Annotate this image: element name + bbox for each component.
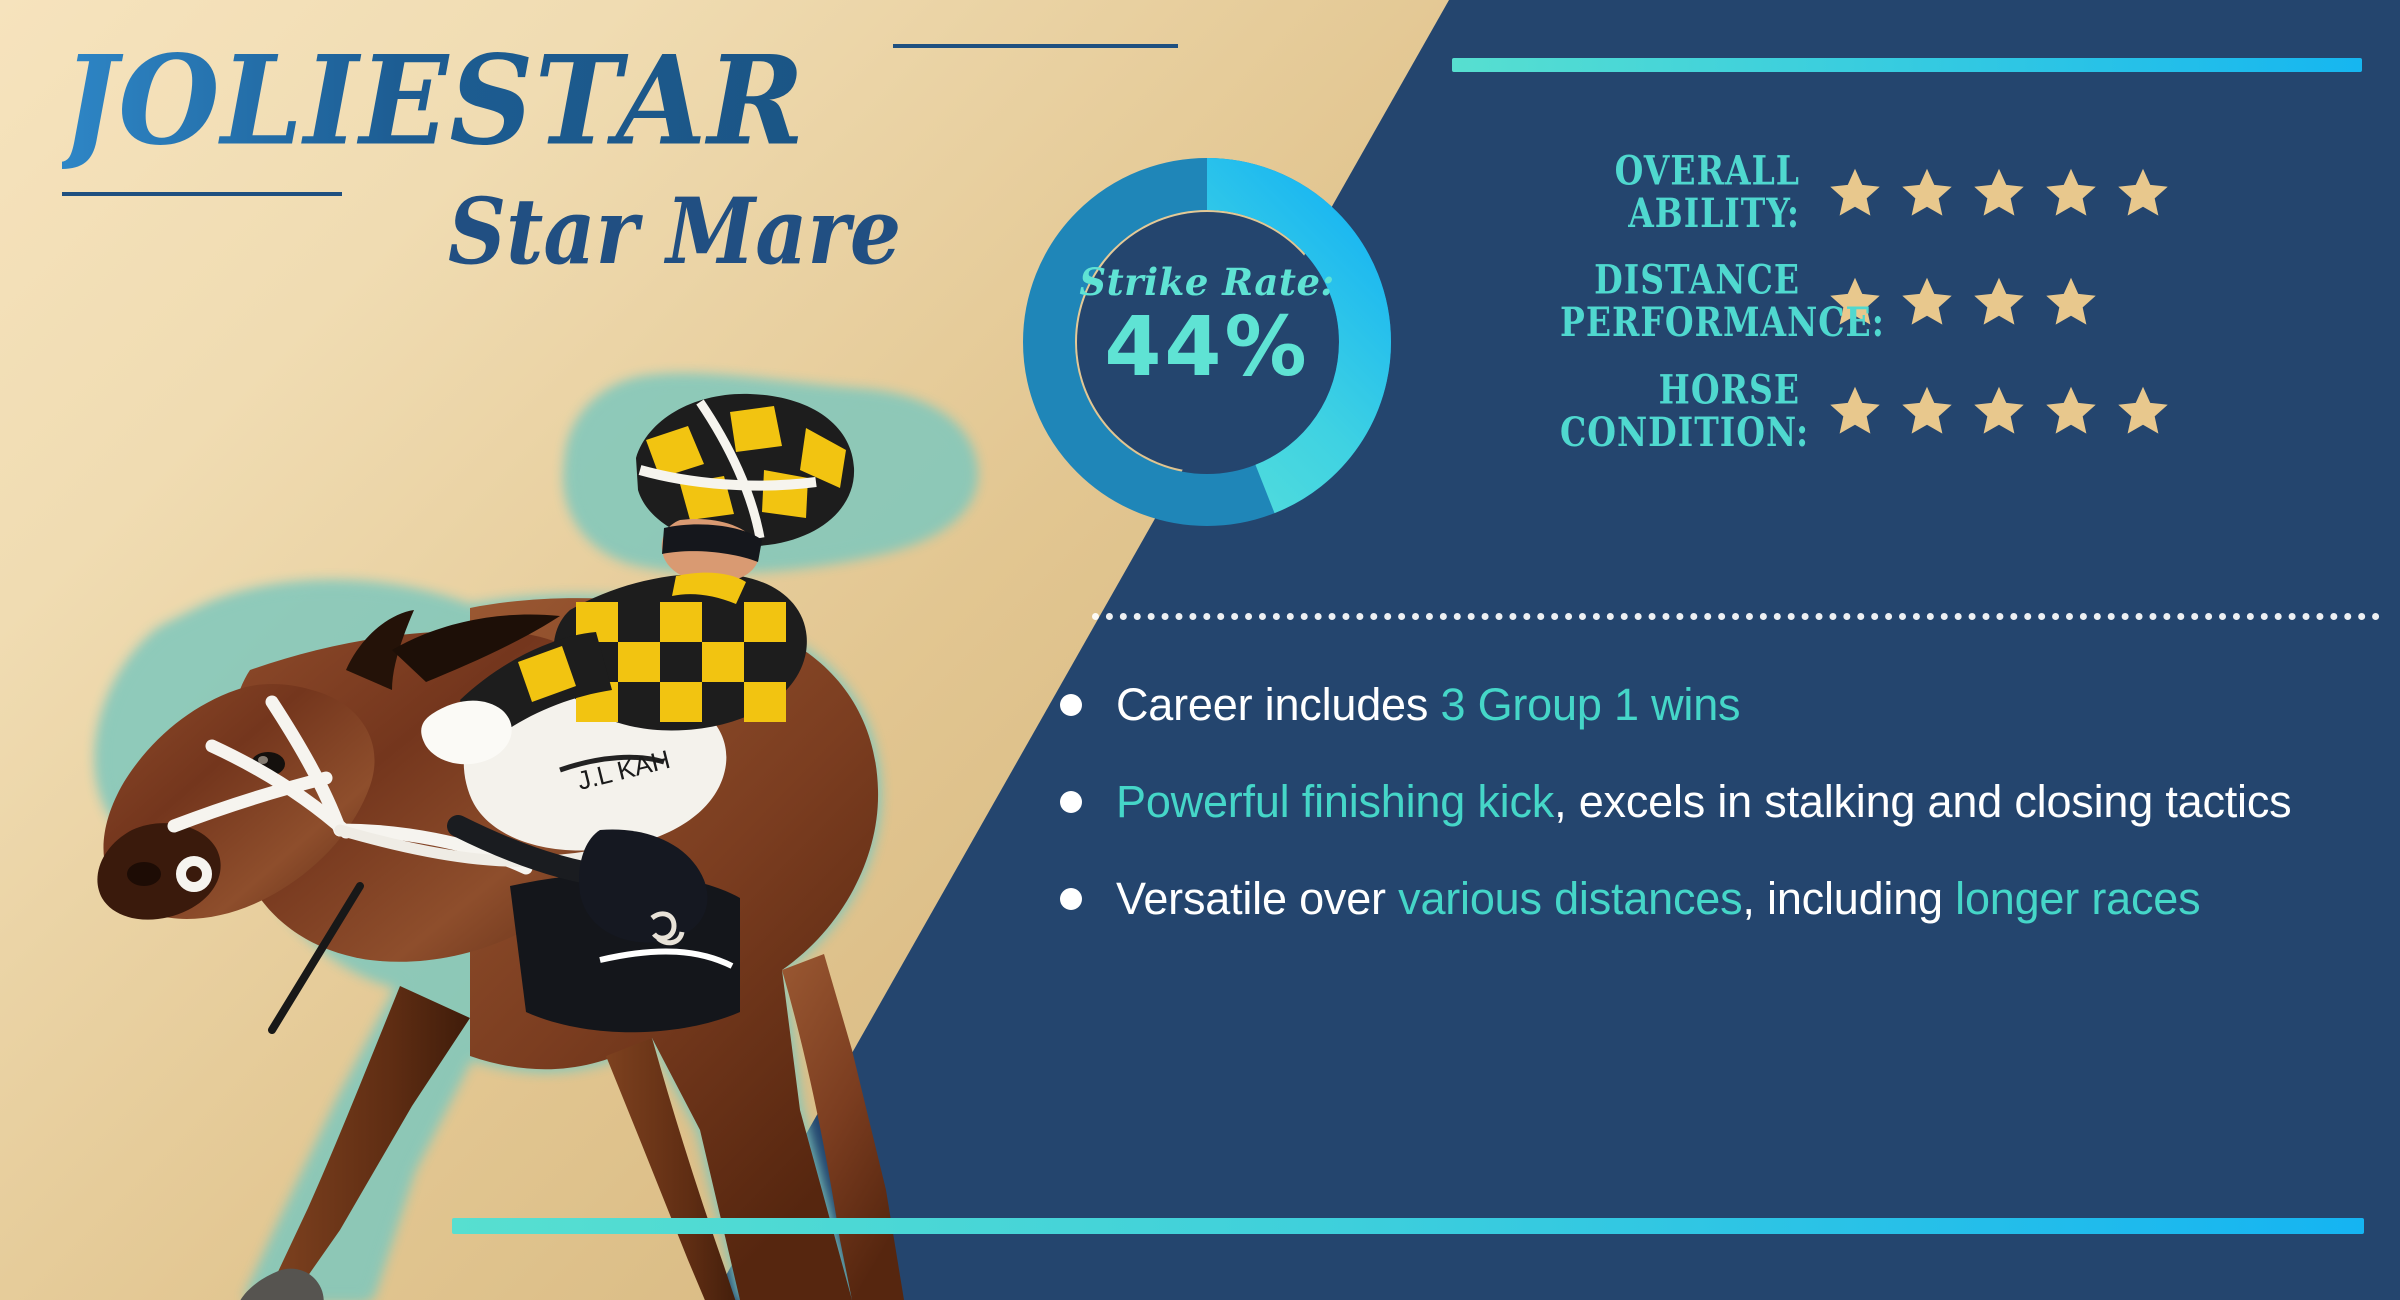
strike-rate-label: Strike Rate: bbox=[997, 260, 1417, 304]
star-icon bbox=[2042, 274, 2100, 330]
title-rule-bottom bbox=[62, 192, 342, 196]
infographic-card: J.L KAH bbox=[0, 0, 2400, 1300]
plain-text: , including bbox=[1742, 873, 1955, 924]
rating-stars bbox=[1826, 165, 2172, 221]
bullet-list: Career includes 3 Group 1 winsPowerful f… bbox=[1060, 678, 2400, 969]
rating-label: OVERALLABILITY: bbox=[1560, 150, 1826, 235]
star-icon bbox=[2042, 383, 2100, 439]
plain-text: Versatile over bbox=[1116, 873, 1398, 924]
star-icon bbox=[1970, 383, 2028, 439]
list-item-text: Career includes 3 Group 1 wins bbox=[1116, 678, 1740, 731]
star-icon bbox=[1826, 383, 1884, 439]
list-item: Versatile over various distances, includ… bbox=[1060, 872, 2400, 925]
strike-rate-value: 44% bbox=[997, 300, 1417, 395]
rating-stars bbox=[1826, 383, 2172, 439]
list-item-text: Powerful finishing kick, excels in stalk… bbox=[1116, 775, 2291, 828]
rating-label-line1: DISTANCE bbox=[1594, 256, 1800, 304]
star-icon bbox=[1898, 383, 1956, 439]
star-icon bbox=[1898, 165, 1956, 221]
star-icon bbox=[2114, 383, 2172, 439]
rating-row: HORSECONDITION: bbox=[1560, 377, 2400, 446]
horse-jockey-photo: J.L KAH bbox=[40, 270, 1040, 1300]
rating-label-line2: CONDITION: bbox=[1560, 408, 1809, 456]
rating-label: HORSECONDITION: bbox=[1560, 369, 1826, 454]
list-item-text: Versatile over various distances, includ… bbox=[1116, 872, 2200, 925]
star-icon bbox=[1970, 165, 2028, 221]
star-icon bbox=[1970, 274, 2028, 330]
rating-label-line1: HORSE bbox=[1659, 365, 1800, 413]
highlight-text: longer races bbox=[1955, 873, 2200, 924]
star-icon bbox=[1898, 274, 1956, 330]
title-rule-top bbox=[893, 44, 1178, 48]
list-item: Powerful finishing kick, excels in stalk… bbox=[1060, 775, 2400, 828]
bullet-dot-icon bbox=[1060, 694, 1082, 716]
star-icon bbox=[2114, 165, 2172, 221]
ratings-list: OVERALLABILITY:DISTANCEPERFORMANCE:HORSE… bbox=[1560, 158, 2400, 486]
bullet-dot-icon bbox=[1060, 888, 1082, 910]
dotted-divider bbox=[1092, 613, 2380, 620]
rating-label-line1: OVERALL bbox=[1615, 147, 1800, 195]
highlight-text: 3 Group 1 wins bbox=[1440, 679, 1740, 730]
strike-rate-donut: Strike Rate: 44% bbox=[997, 132, 1417, 552]
plain-text: , excels in stalking and closing tactics bbox=[1554, 776, 2291, 827]
page-title: JOLIESTAR bbox=[62, 28, 805, 173]
plain-text: Career includes bbox=[1116, 679, 1440, 730]
rating-label: DISTANCEPERFORMANCE: bbox=[1560, 260, 1826, 345]
rating-row: DISTANCEPERFORMANCE: bbox=[1560, 267, 2400, 336]
star-icon bbox=[2042, 165, 2100, 221]
page-subtitle: Star Mare bbox=[448, 178, 901, 285]
rating-label-line2: ABILITY: bbox=[1628, 189, 1800, 237]
rating-label-line2: PERFORMANCE: bbox=[1560, 298, 1885, 346]
list-item: Career includes 3 Group 1 wins bbox=[1060, 678, 2400, 731]
star-icon bbox=[1826, 165, 1884, 221]
accent-bar-top bbox=[1452, 58, 2362, 72]
bullet-dot-icon bbox=[1060, 791, 1082, 813]
accent-bar-bottom bbox=[452, 1218, 2364, 1234]
rating-row: OVERALLABILITY: bbox=[1560, 158, 2400, 227]
highlight-text: various distances bbox=[1398, 873, 1742, 924]
highlight-text: Powerful finishing kick bbox=[1116, 776, 1554, 827]
